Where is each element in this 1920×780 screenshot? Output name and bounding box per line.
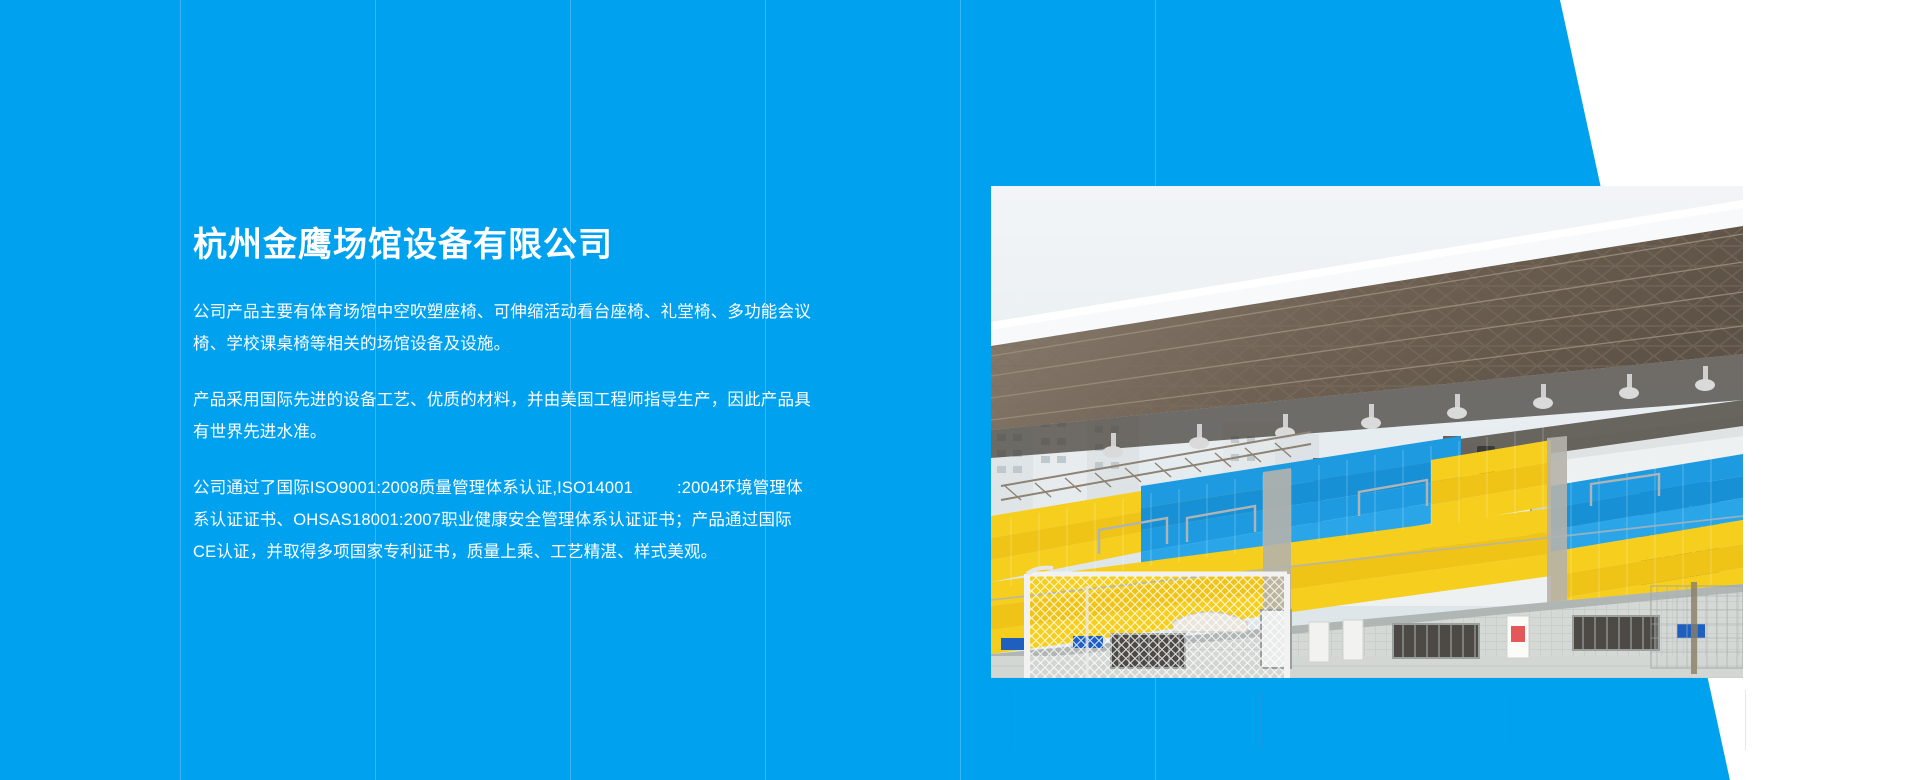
hero-banner: 杭州金鹰场馆设备有限公司 公司产品主要有体育场馆中空吹塑座椅、可伸缩活动看台座椅…	[0, 0, 1920, 780]
stadium-photo: 100th 1907	[991, 186, 1743, 678]
grid-line	[1745, 690, 1746, 750]
paragraph-certifications: 公司通过了国际ISO9001:2008质量管理体系认证,ISO14001:200…	[193, 472, 813, 568]
paragraph-technology: 产品采用国际先进的设备工艺、优质的材料，并由美国工程师指导生产，因此产品具有世界…	[193, 384, 813, 448]
hero-copy: 杭州金鹰场馆设备有限公司 公司产品主要有体育场馆中空吹塑座椅、可伸缩活动看台座椅…	[193, 225, 813, 568]
cert-text-part-1: 公司通过了国际ISO9001:2008质量管理体系认证,ISO14001	[193, 479, 633, 497]
page-title: 杭州金鹰场馆设备有限公司	[193, 225, 813, 266]
paragraph-products: 公司产品主要有体育场馆中空吹塑座椅、可伸缩活动看台座椅、礼堂椅、多功能会议椅、学…	[193, 296, 813, 360]
stadium-illustration: 100th 1907	[991, 186, 1743, 678]
